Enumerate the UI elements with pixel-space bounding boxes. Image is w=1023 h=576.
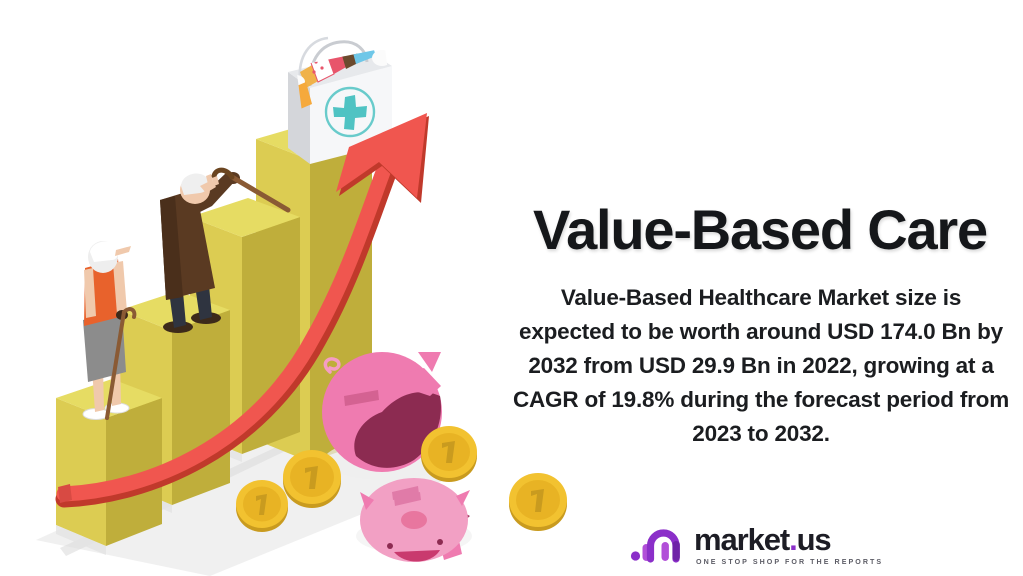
market-description: Value-Based Healthcare Market size is ex… [511,281,1011,451]
text-column: Value-Based Care Value-Based Healthcare … [497,0,1023,576]
logo-text-block: market.us ONE STOP SHOP FOR THE REPORTS [694,524,883,568]
coin-right-upper [421,426,477,482]
infographic-canvas: Value-Based Care Value-Based Healthcare … [0,0,1023,576]
illustration-isometric-growth-chart [0,0,500,576]
logo-wordmark: market.us [694,524,883,555]
coin-left [236,480,288,532]
coin-center [283,450,341,508]
market-us-logo-mark-icon [630,529,682,563]
logo-wordmark-dot: . [789,522,797,557]
logo-wordmark-suffix: us [797,522,831,557]
logo-tagline: ONE STOP SHOP FOR THE REPORTS [694,557,883,568]
market-us-logo[interactable]: market.us ONE STOP SHOP FOR THE REPORTS [630,524,883,568]
logo-wordmark-main: market [694,522,789,557]
page-title: Value-Based Care [497,200,1023,260]
